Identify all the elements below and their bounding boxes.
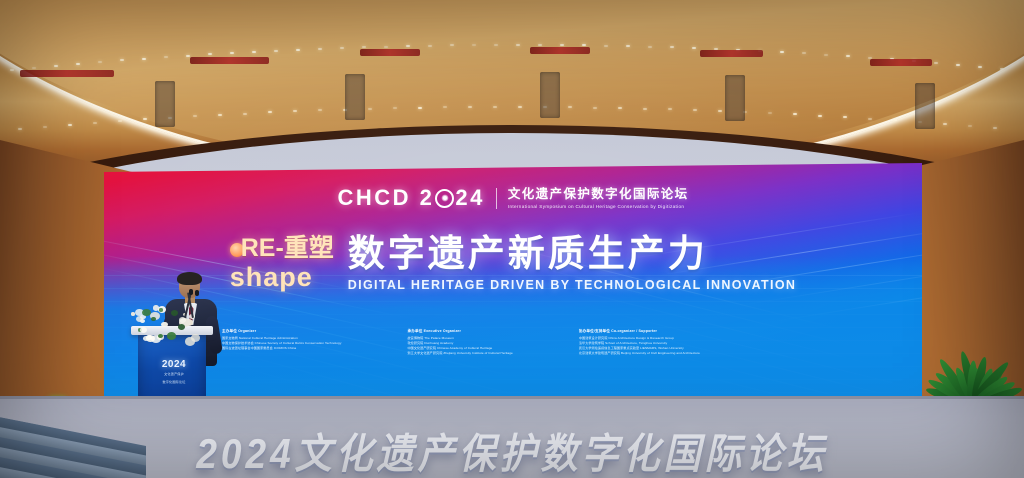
ceiling-led-dot [793,113,797,115]
ceiling-led-dot [518,106,522,108]
ceiling-vent-panel [725,75,745,121]
ceiling-vent-panel [155,81,175,127]
ceiling-led-dot [384,46,388,48]
header-title-cn: 文化遗产保护数字化国际论坛 [508,187,689,201]
ceiling-led-dot [368,108,372,110]
podium-sub-line-1: 文化遗产保护 [164,372,184,377]
ceiling-led-dot [968,125,972,127]
ceiling-led-dot [252,51,256,53]
screen-credits: 主办单位 Organizer国家文物局 National Cultural He… [222,329,822,356]
ceiling-led-dot [493,106,497,108]
header-title-group: 文化遗产保护数字化国际论坛 International Symposium on… [508,187,689,208]
flower-blossom [143,336,149,341]
ceiling-led-dot [718,110,722,112]
ceiling-red-light-strip [530,47,590,54]
ceiling-led-dot [274,50,278,52]
ceiling-led-dot [538,44,542,46]
flower-blossom [140,327,147,333]
globe-emblem-icon [435,189,454,208]
ceiling-led-dot [868,118,872,120]
ceiling-led-dot [472,44,476,46]
flower-blossom [167,332,176,340]
credit-heading: 承办单位 Executive Organizer [407,329,512,334]
ceiling-led-dot [208,53,212,55]
headline-cn: 数字遗产新质生产力 [348,235,797,274]
ceiling-led-dot [692,47,696,49]
headline-en: DIGITAL HERITAGE DRIVEN BY TECHNOLOGICAL… [348,278,797,292]
podium-sub-line-2: 数字化国际论坛 [162,380,185,385]
flower-blossom [159,308,163,311]
flower-blossom [142,309,151,316]
ceiling-led-dot [32,67,36,69]
ceiling-led-dot [468,106,472,108]
ceiling-led-dot [428,45,432,47]
ceiling-led-dot [593,107,597,109]
credit-heading: 协办单位/支持单位 Co-organizer / Supporter [579,329,700,334]
conference-stage-photo: CHC D 2 24 文化遗产保护数字化国际论坛 International S… [0,0,1024,478]
header-title-en: International Symposium on Cultural Heri… [508,204,689,209]
flower-blossom [178,324,185,330]
ceiling-led-dot [218,114,222,116]
ceiling-led-dot [893,119,897,121]
ceiling-led-dot [362,46,366,48]
ceiling-led-dot [418,107,422,109]
ceiling-led-dot [516,44,520,46]
microphone-head-right [195,290,199,296]
ceiling-led-dot [68,124,72,126]
ceiling-led-dot [54,65,58,67]
ceiling-led-dot [186,55,190,57]
ceiling-led-dot [230,52,234,54]
ceiling-led-dot [98,61,102,63]
ceiling-red-light-strip [190,57,269,64]
ceiling-led-dot [18,128,22,130]
credit-line: 北京建筑大学建筑遗产研究院 Beijing University of Civi… [579,351,700,356]
reshape-top-text: RE-重塑 [241,234,334,262]
credit-column-2: 承办单位 Executive Organizer故宫博物院 The Palace… [407,329,512,356]
ceiling-led-dot [164,56,168,58]
ceiling-led-dot [956,64,960,66]
ceiling-led-dot [296,49,300,51]
ceiling-led-dot [406,45,410,47]
reshape-top-row: RE-重塑 [230,236,334,261]
ceiling-led-dot [843,116,847,118]
ceiling-led-dot [780,51,784,53]
ceiling-led-dot [648,46,652,48]
podium-signage: 2024 文化遗产保护 数字化国际论坛 [149,352,199,392]
ceiling-led-dot [604,45,608,47]
ceiling-led-dot [43,126,47,128]
ceiling-led-dot [494,44,498,46]
ceiling-led-dot [824,54,828,56]
ceiling-led-dot [142,58,146,60]
ceiling-led-dot [560,44,564,46]
credit-column-3: 协办单位/支持单位 Co-organizer / Supporter中国建筑设计… [579,329,700,356]
stage-floor-edge [0,396,1024,399]
headline-group: 数字遗产新质生产力 DIGITAL HERITAGE DRIVEN BY TEC… [348,235,797,292]
stage-front-banner: 2024文化遗产保护数字化国际论坛 [0,422,1024,478]
ceiling-led-dot [978,66,982,68]
flower-blossom [158,334,163,338]
ceiling-led-dot [943,123,947,125]
screen-header: CHC D 2 24 文化遗产保护数字化国际论坛 International S… [104,185,922,211]
flower-blossom [191,334,201,342]
stage-banner-text: 2024文化遗产保护数字化国际论坛 [196,422,827,478]
ceiling-led-dot [693,109,697,111]
ceiling-led-dot [93,122,97,124]
podium-year: 2024 [162,359,186,370]
ceiling-led-dot [340,47,344,49]
flower-blossom [161,322,167,327]
ceiling-led-dot [846,55,850,57]
ceiling-led-dot [818,115,822,117]
ceiling-vent-panel [540,72,560,118]
ceiling-led-dot [768,112,772,114]
ceiling [0,0,1024,175]
ceiling-vent-panel [345,74,365,120]
ceiling-led-dot [10,69,14,71]
credit-line: 浙江大学文化遗产研究院 Zhejiang University Institut… [407,351,512,356]
flower-blossom [171,310,178,316]
ceiling-red-light-strip [870,59,932,66]
ceiling-red-light-strip [20,70,114,77]
chcd-logo: CHC D 2 24 [337,185,484,211]
flower-blossom [151,317,156,321]
ceiling-vent-panel [915,83,935,129]
ceiling-led-dot [1000,68,1004,70]
ceiling-led-dot [993,127,997,129]
ceiling-led-dot [243,113,247,115]
ceiling-red-light-strip [360,49,420,56]
ceiling-led-dot [318,48,322,50]
chcd-logo-text-mid: D 2 [393,185,435,211]
ceiling-led-dot [118,120,122,122]
ceiling-led-dot [618,107,622,109]
ceiling-red-light-strip [700,50,763,57]
microphone-head-left [189,289,193,295]
ceiling-led-dot [643,108,647,110]
chcd-logo-text-end: 24 [455,185,484,211]
ceiling-led-dot [668,108,672,110]
speaker-hair [177,272,202,285]
ceiling-led-dot [934,62,938,64]
chcd-logo-text-left: CHC [337,185,392,211]
header-divider [496,188,497,209]
ceiling-led-dot [76,63,80,65]
